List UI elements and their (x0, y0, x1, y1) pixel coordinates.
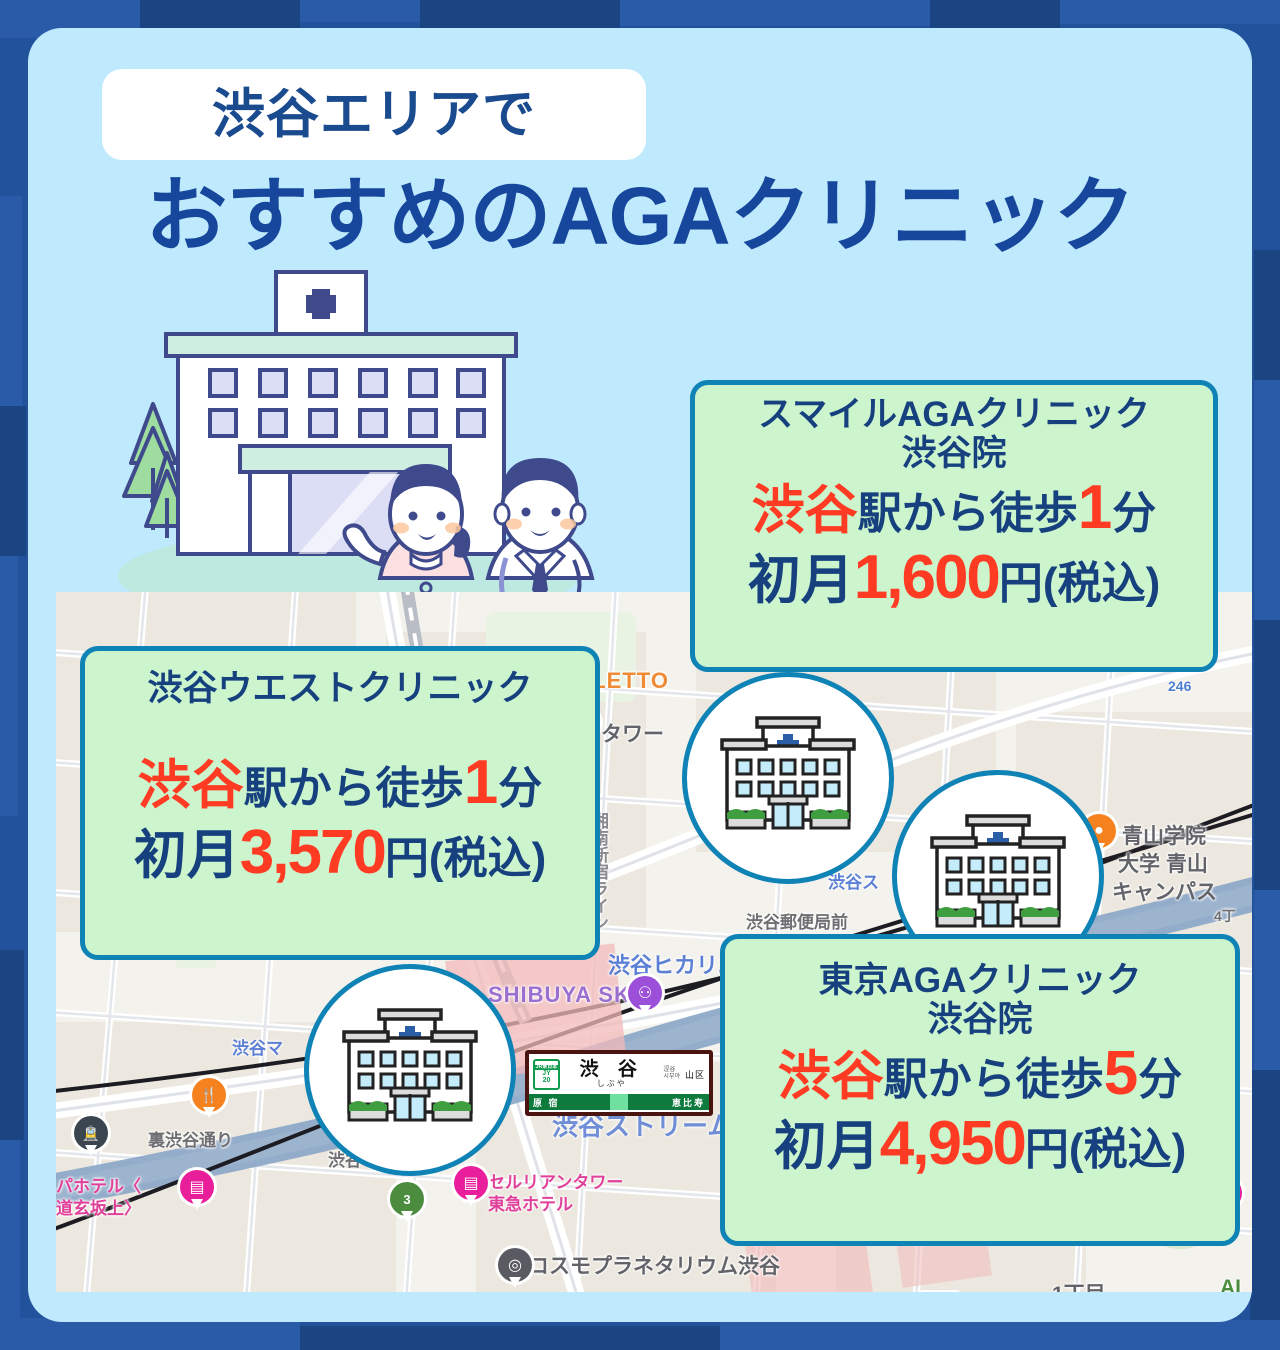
clinic-price: 初月4,950円(税込) (725, 1109, 1235, 1178)
walk-minutes: 1 (1078, 473, 1112, 542)
walk-suffix: 分 (1138, 1055, 1182, 1104)
walk-suffix: 分 (498, 764, 542, 813)
poi-hotel-cerulean-icon[interactable]: ▤ (454, 1166, 488, 1208)
station-name: 渋谷 (752, 481, 858, 540)
hospital-icon (713, 716, 863, 841)
walk-prefix: 駅から徒歩 (858, 489, 1078, 538)
line-number-badge: JR東日本 JY 20 (533, 1059, 560, 1090)
price-suffix: 円(税込) (999, 559, 1160, 608)
clinic-info-smile-aga[interactable]: スマイルAGAクリニック 渋谷院 渋谷駅から徒歩1分 初月1,600円(税込) (690, 380, 1218, 672)
poi-restaurant-icon[interactable]: 🍴 (192, 1078, 226, 1120)
map-label-tower: タワー (601, 718, 664, 748)
map-label-aoyama-gakuin-2: 大学 青山 (1118, 848, 1208, 878)
poi-attraction-icon[interactable]: ⚇ (628, 976, 662, 1018)
clinic-name-line1: 東京AGAクリニック (725, 939, 1235, 1000)
hospital-icon (335, 1008, 485, 1133)
station-name: 渋谷 (778, 1047, 884, 1106)
station-number: 20 (543, 1077, 551, 1084)
poi-train-station-icon[interactable]: 🚊 (74, 1116, 108, 1158)
clinic-walk-time: 渋谷駅から徒歩1分 (85, 748, 595, 817)
prev-station-kanji: 原 宿 (533, 1096, 560, 1109)
prev-station-roman: Harajuku (533, 1113, 563, 1117)
clinic-name-line2: 渋谷院 (725, 1000, 1235, 1039)
walk-prefix: 駅から徒歩 (884, 1055, 1104, 1104)
map-label-shibuya-sky: SHIBUYA SKY (488, 982, 647, 1008)
station-name-kanji: 渋 谷 (565, 1060, 658, 1079)
map-label-cosmo-planetarium: コスモプラネタリウム渋谷 (528, 1250, 780, 1280)
poi-park-number-icon[interactable]: 3 (390, 1182, 424, 1224)
map-label-ura-shibuya-dori: 裏渋谷通り (148, 1126, 233, 1151)
current-station-marker (610, 1094, 628, 1110)
hospital-illustration (98, 258, 638, 648)
station-name-kana: しぶや (565, 1080, 658, 1088)
price-value: 4,950 (880, 1109, 1025, 1178)
price-prefix: 初月 (748, 551, 854, 610)
route-shield-305: 305 (918, 1290, 961, 1292)
station-name-kr: 시부야 (663, 1074, 680, 1081)
shibuya-station-sign: JR東日本 JY 20 渋 谷 しぶや 涩谷 시부야 山区 原 宿 恵比寿 Ha… (525, 1050, 713, 1116)
map-label-aoyama-gakuin-3: キャンパス (1112, 876, 1217, 906)
page-title: おすすめのAGAクリニック (28, 174, 1252, 260)
poi-hotel-apa-icon[interactable]: ▤ (180, 1170, 214, 1212)
station-name: 渋谷 (138, 756, 244, 815)
map-label-a: AI (1220, 1276, 1241, 1292)
next-station-kanji: 恵比寿 (672, 1096, 705, 1109)
map-label-1chome: 1丁目 (1052, 1278, 1106, 1292)
area-badge-label: 渋谷エリアで (212, 88, 536, 141)
price-suffix: 円(税込) (1025, 1125, 1186, 1174)
clinic-walk-time: 渋谷駅から徒歩5分 (725, 1039, 1235, 1108)
clinic-name-line1: 渋谷ウエストクリニック (85, 651, 595, 708)
station-ward-label: 山区 (685, 1068, 705, 1081)
clinic-walk-time: 渋谷駅から徒歩1分 (695, 473, 1213, 542)
map-label-4chome: 4丁 (1214, 906, 1236, 926)
infographic-card: 渋谷エリアで おすすめのAGAクリニック (28, 28, 1252, 1322)
map-label-246: 246 (1168, 678, 1191, 694)
map-label-shibuya-ma: 渋谷マ (232, 1034, 283, 1059)
price-suffix: 円(税込) (385, 834, 546, 883)
clinic-price: 初月3,570円(税込) (85, 818, 595, 887)
clinic-name-line2: 渋谷院 (695, 434, 1213, 473)
map-label-aoyama-gakuin-1: 青山学院 (1122, 820, 1206, 850)
price-prefix: 初月 (134, 826, 240, 885)
price-value: 3,570 (240, 818, 385, 887)
clinic-info-tokyo-aga[interactable]: 東京AGAクリニック 渋谷院 渋谷駅から徒歩5分 初月4,950円(税込) (720, 934, 1240, 1246)
station-name-cn: 涩谷 (663, 1067, 680, 1074)
map-label-cerulean-2: 東急ホテル (488, 1190, 573, 1215)
area-badge: 渋谷エリアで (102, 69, 646, 160)
map-label-apa-hotel-2: 道玄坂上〉 (56, 1194, 141, 1219)
clinic-marker-shibuya-west[interactable] (304, 964, 516, 1176)
walk-prefix: 駅から徒歩 (244, 764, 464, 813)
walk-suffix: 分 (1112, 489, 1156, 538)
poi-planetarium-icon[interactable]: ◎ (498, 1248, 532, 1290)
map-label-shibuya-post-office: 渋谷郵便局前 (746, 908, 848, 933)
walk-minutes: 1 (464, 748, 498, 817)
clinic-price: 初月1,600円(税込) (695, 543, 1213, 612)
clinic-name-line1: スマイルAGAクリニック (695, 385, 1213, 434)
current-station-roman: Shibuya (609, 1112, 640, 1117)
line-code: JY (542, 1070, 551, 1077)
next-station-roman: Ebisu (686, 1113, 705, 1117)
hospital-icon (923, 814, 1073, 939)
walk-minutes: 5 (1104, 1039, 1138, 1108)
clinic-info-shibuya-west[interactable]: 渋谷ウエストクリニック 渋谷駅から徒歩1分 初月3,570円(税込) (80, 646, 600, 960)
price-value: 1,600 (854, 543, 999, 612)
price-prefix: 初月 (774, 1117, 880, 1176)
clinic-marker-smile-aga[interactable] (682, 672, 894, 884)
